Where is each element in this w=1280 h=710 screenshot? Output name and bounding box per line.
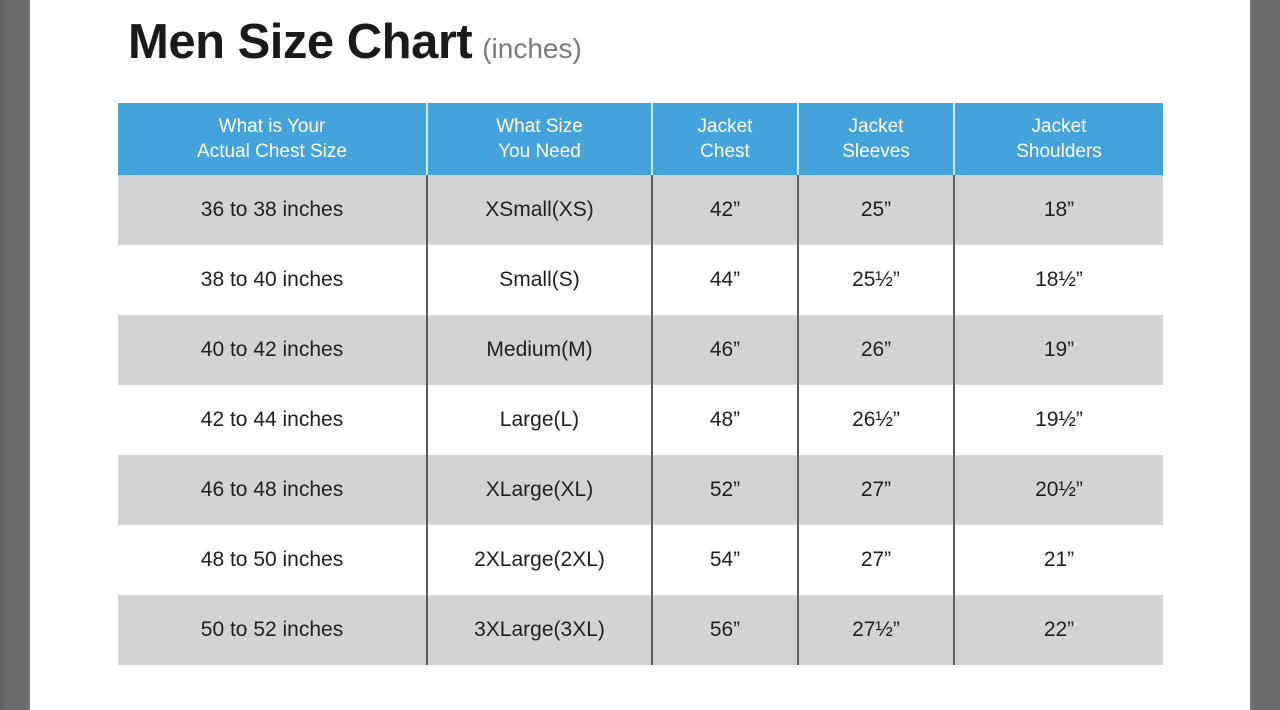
page-title: Men Size Chart (inches)	[128, 18, 582, 67]
cell-jacket-shoulders: 18½”	[954, 245, 1163, 315]
column-header-jacket-sleeves: Jacket Sleeves	[798, 103, 954, 175]
cell-jacket-chest: 48”	[652, 385, 798, 455]
cell-jacket-sleeves: 27½”	[798, 595, 954, 665]
table-row: 48 to 50 inches 2XLarge(2XL) 54” 27” 21”	[118, 525, 1163, 595]
cell-jacket-shoulders: 20½”	[954, 455, 1163, 525]
table-row: 46 to 48 inches XLarge(XL) 52” 27” 20½”	[118, 455, 1163, 525]
left-letterbox-band	[0, 0, 30, 710]
size-chart-table: What is Your Actual Chest Size What Size…	[118, 103, 1163, 665]
cell-jacket-shoulders: 21”	[954, 525, 1163, 595]
cell-jacket-sleeves: 26”	[798, 315, 954, 385]
table-body: 36 to 38 inches XSmall(XS) 42” 25” 18” 3…	[118, 175, 1163, 665]
table-row: 50 to 52 inches 3XLarge(3XL) 56” 27½” 22…	[118, 595, 1163, 665]
table-header: What is Your Actual Chest Size What Size…	[118, 103, 1163, 175]
cell-size: XLarge(XL)	[427, 455, 652, 525]
cell-jacket-shoulders: 19”	[954, 315, 1163, 385]
cell-jacket-chest: 54”	[652, 525, 798, 595]
column-header-line2: Chest	[657, 139, 793, 164]
table-header-row: What is Your Actual Chest Size What Size…	[118, 103, 1163, 175]
cell-size: XSmall(XS)	[427, 175, 652, 245]
title-main-text: Men Size Chart	[128, 18, 472, 67]
column-header-jacket-chest: Jacket Chest	[652, 103, 798, 175]
cell-jacket-shoulders: 22”	[954, 595, 1163, 665]
cell-chest-range: 42 to 44 inches	[118, 385, 427, 455]
cell-jacket-chest: 44”	[652, 245, 798, 315]
title-units-label: (inches)	[482, 35, 582, 63]
column-header-line1: Jacket	[803, 114, 949, 139]
cell-jacket-sleeves: 25½”	[798, 245, 954, 315]
table-row: 38 to 40 inches Small(S) 44” 25½” 18½”	[118, 245, 1163, 315]
column-header-line2: Actual Chest Size	[122, 139, 422, 164]
cell-jacket-chest: 42”	[652, 175, 798, 245]
cell-size: Large(L)	[427, 385, 652, 455]
slide-page: Men Size Chart (inches) What is Your Act…	[0, 0, 1280, 710]
column-header-line1: Jacket	[657, 114, 793, 139]
column-header-line2: Shoulders	[959, 139, 1159, 164]
cell-chest-range: 40 to 42 inches	[118, 315, 427, 385]
cell-chest-range: 38 to 40 inches	[118, 245, 427, 315]
cell-size: Small(S)	[427, 245, 652, 315]
column-header-line2: Sleeves	[803, 139, 949, 164]
cell-jacket-sleeves: 27”	[798, 525, 954, 595]
cell-jacket-sleeves: 27”	[798, 455, 954, 525]
cell-chest-range: 48 to 50 inches	[118, 525, 427, 595]
cell-jacket-shoulders: 18”	[954, 175, 1163, 245]
column-header-actual-chest-size: What is Your Actual Chest Size	[118, 103, 427, 175]
cell-jacket-chest: 52”	[652, 455, 798, 525]
cell-size: 3XLarge(3XL)	[427, 595, 652, 665]
column-header-size-you-need: What Size You Need	[427, 103, 652, 175]
cell-jacket-shoulders: 19½”	[954, 385, 1163, 455]
cell-chest-range: 50 to 52 inches	[118, 595, 427, 665]
table-row: 40 to 42 inches Medium(M) 46” 26” 19”	[118, 315, 1163, 385]
column-header-line1: Jacket	[959, 114, 1159, 139]
cell-chest-range: 36 to 38 inches	[118, 175, 427, 245]
table-row: 36 to 38 inches XSmall(XS) 42” 25” 18”	[118, 175, 1163, 245]
table-row: 42 to 44 inches Large(L) 48” 26½” 19½”	[118, 385, 1163, 455]
slide-canvas: Men Size Chart (inches) What is Your Act…	[32, 0, 1248, 710]
column-header-line2: You Need	[432, 139, 647, 164]
cell-jacket-sleeves: 26½”	[798, 385, 954, 455]
column-header-line1: What Size	[432, 114, 647, 139]
cell-chest-range: 46 to 48 inches	[118, 455, 427, 525]
cell-jacket-chest: 56”	[652, 595, 798, 665]
cell-jacket-sleeves: 25”	[798, 175, 954, 245]
column-header-line1: What is Your	[122, 114, 422, 139]
cell-size: 2XLarge(2XL)	[427, 525, 652, 595]
cell-size: Medium(M)	[427, 315, 652, 385]
cell-jacket-chest: 46”	[652, 315, 798, 385]
column-header-jacket-shoulders: Jacket Shoulders	[954, 103, 1163, 175]
right-letterbox-band	[1250, 0, 1280, 710]
